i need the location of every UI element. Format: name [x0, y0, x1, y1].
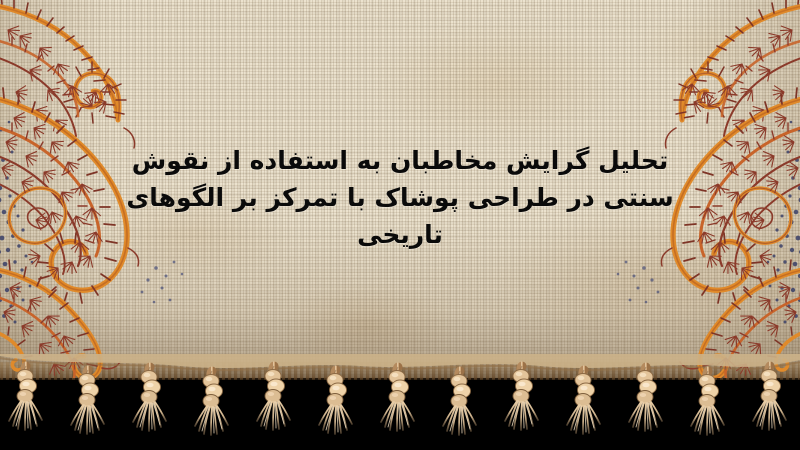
paisley-motif-svg: [0, 0, 246, 378]
fringe-svg: [0, 354, 800, 450]
paisley-embroidery-corner-left: [0, 0, 246, 378]
tassel-row: [9, 366, 786, 435]
title-card-canvas: تحلیل گرایش مخاطبان به استفاده از نقوش س…: [0, 0, 800, 450]
paisley-embroidery-corner-right: [554, 0, 800, 378]
paisley-motif-svg-mirrored: [554, 0, 800, 378]
navy-speckle-inner: [141, 261, 184, 304]
navy-speckle-inner: [617, 261, 660, 304]
stray-sprigs: [661, 128, 698, 369]
knotted-tassel-fringe: [0, 354, 800, 450]
stray-sprigs: [102, 128, 139, 369]
